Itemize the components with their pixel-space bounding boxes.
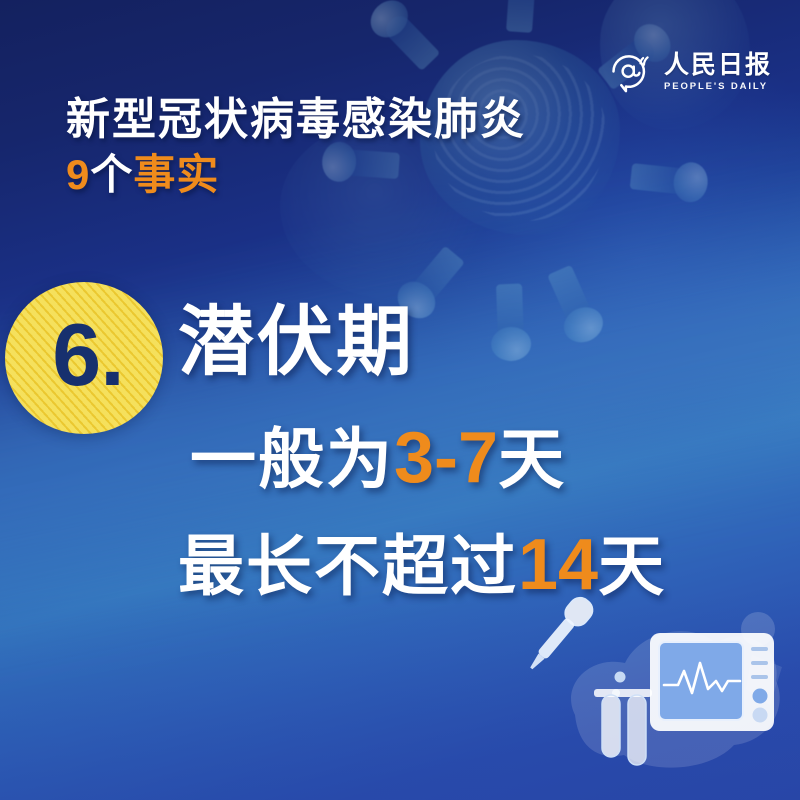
- pipette-dropper-icon: [522, 593, 597, 676]
- fact-copy-block: 潜伏期 一般为3-7天 最长不超过14天: [178, 304, 666, 602]
- logo-name-cn: 人民日报: [664, 52, 772, 78]
- fact-line-max-value: 14: [518, 525, 598, 605]
- monitor-knob: [753, 689, 768, 704]
- headline-subtitle-noun: 事实: [133, 151, 219, 198]
- fact-number-label: 6.: [52, 311, 123, 399]
- logo-text-group: 人民日报 PEOPLE'S DAILY: [664, 52, 772, 92]
- headline-subtitle-count: 9: [66, 151, 90, 198]
- monitor-indicator-bar: [751, 675, 768, 679]
- at-speech-bubble-icon: [609, 52, 655, 98]
- medical-illustration: [520, 585, 790, 790]
- ecg-monitor-icon: [650, 633, 774, 731]
- pipette-drop: [615, 672, 626, 683]
- fact-line-max-unit: 天: [598, 529, 666, 603]
- monitor-indicator-bar: [751, 661, 768, 665]
- page-title: 新型冠状病毒感染肺炎: [66, 96, 526, 144]
- virus-spike: [381, 11, 440, 71]
- fact-number-badge: 6.: [5, 282, 163, 434]
- monitor-knob: [753, 708, 768, 723]
- headline-subtitle: 9个事实: [66, 153, 526, 197]
- logo-name-en: PEOPLE'S DAILY: [664, 81, 772, 92]
- fact-line-typical-unit: 天: [498, 422, 566, 496]
- poster-canvas: 人民日报 PEOPLE'S DAILY 新型冠状病毒感染肺炎 9个事实 6. 潜…: [0, 0, 800, 800]
- fact-line-typical-prefix: 一般为: [190, 422, 394, 496]
- headline-subtitle-measure: 个: [90, 151, 133, 198]
- fact-line-max-prefix: 最长不超过: [178, 529, 518, 603]
- fact-heading: 潜伏期: [178, 304, 666, 382]
- fact-line-typical-value: 3-7: [394, 418, 498, 498]
- headline-block: 新型冠状病毒感染肺炎 9个事实: [66, 96, 526, 197]
- peoples-daily-logo: 人民日报 PEOPLE'S DAILY: [609, 52, 772, 98]
- fact-line-typical: 一般为3-7天: [178, 422, 666, 495]
- virus-spike: [506, 0, 536, 33]
- virus-spike: [630, 163, 690, 195]
- fact-line-max: 最长不超过14天: [178, 529, 666, 602]
- monitor-indicator-bar: [751, 647, 768, 651]
